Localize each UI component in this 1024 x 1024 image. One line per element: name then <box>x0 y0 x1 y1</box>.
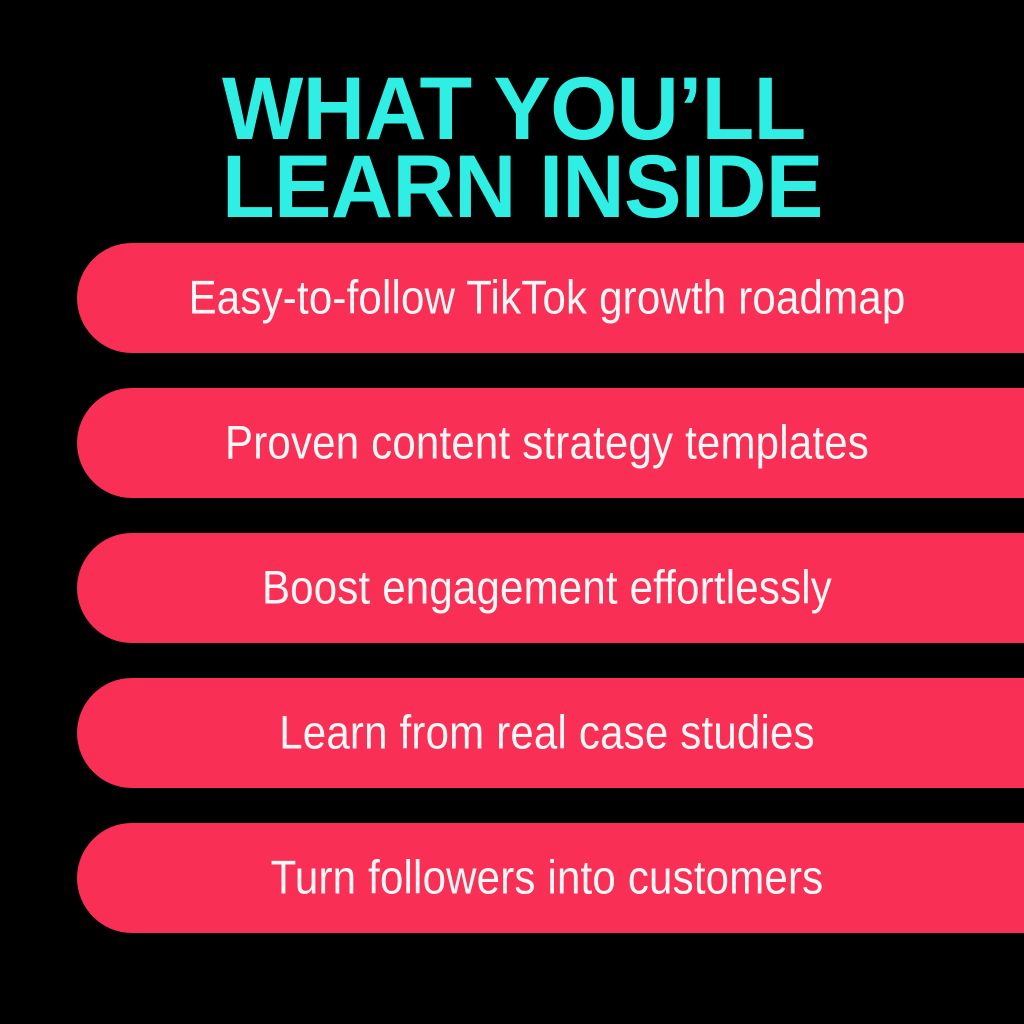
page-title: WHAT YOU’LL LEARN INSIDE <box>222 68 1002 214</box>
benefit-label-5: Turn followers into customers <box>77 854 1017 901</box>
benefits-list: Easy-to-follow TikTok growth roadmap Pro… <box>0 243 1024 933</box>
benefit-label-1: Easy-to-follow TikTok growth roadmap <box>77 274 1017 321</box>
poster-canvas: WHAT YOU’LL LEARN INSIDE Easy-to-follow … <box>0 0 1024 1024</box>
page-title-line-2: LEARN INSIDE <box>222 146 1024 229</box>
benefit-pill-3[interactable]: Boost engagement effortlessly <box>77 533 1024 643</box>
benefit-label-3: Boost engagement effortlessly <box>77 564 1017 611</box>
benefit-pill-1[interactable]: Easy-to-follow TikTok growth roadmap <box>77 243 1024 353</box>
benefit-pill-4[interactable]: Learn from real case studies <box>77 678 1024 788</box>
benefit-pill-2[interactable]: Proven content strategy templates <box>77 388 1024 498</box>
benefit-pill-5[interactable]: Turn followers into customers <box>77 823 1024 933</box>
benefit-label-4: Learn from real case studies <box>77 709 1017 756</box>
benefit-label-2: Proven content strategy templates <box>77 419 1017 466</box>
